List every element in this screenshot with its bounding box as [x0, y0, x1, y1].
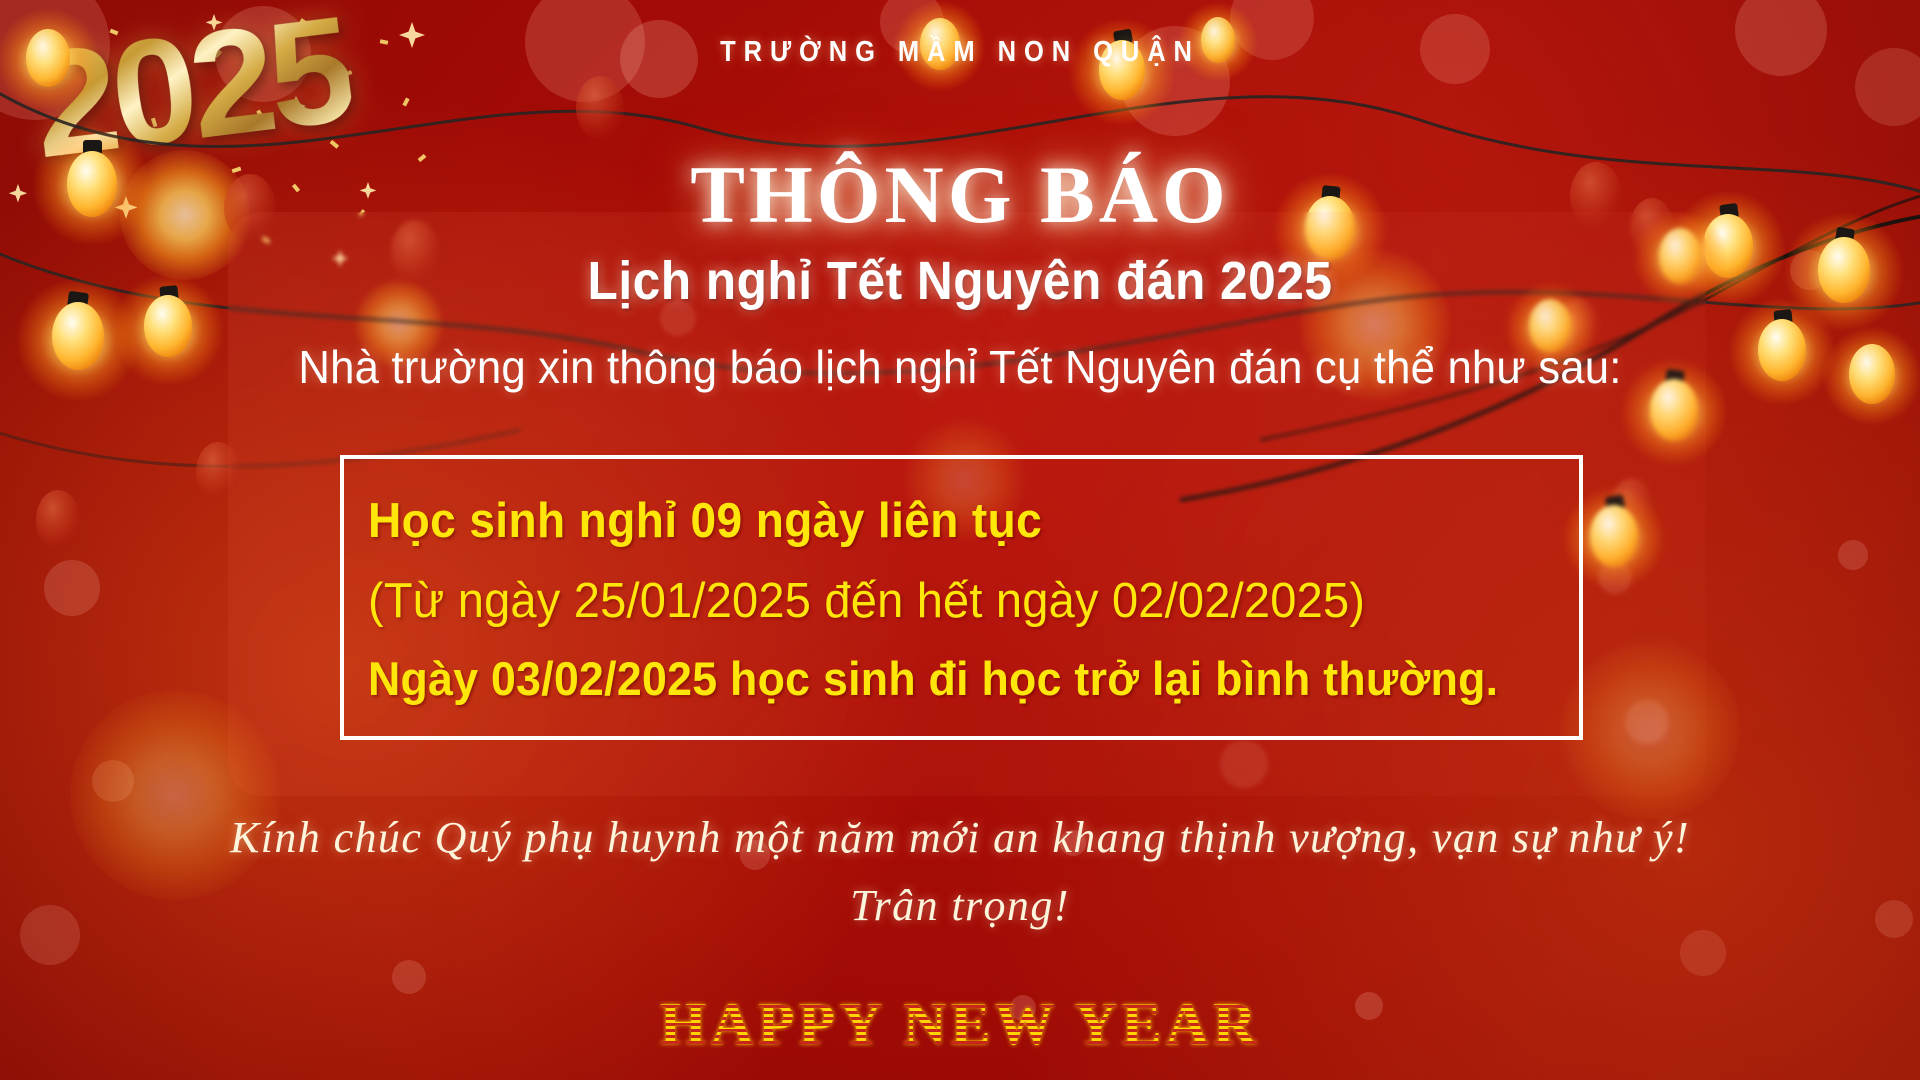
bokeh-circle-icon — [525, 0, 645, 102]
school-name: TRƯỜNG MẦM NON QUẬN — [115, 36, 1805, 69]
bokeh-circle-icon — [0, 0, 110, 120]
bokeh-circle-icon — [1230, 0, 1314, 60]
bokeh-circle-icon — [620, 20, 698, 98]
bokeh-circle-icon — [1060, 830, 1086, 856]
light-bulb-icon — [112, 274, 224, 386]
bokeh-circle-icon — [1120, 26, 1230, 136]
light-bulb-icon — [1728, 298, 1836, 406]
year-balloon-text: 2025 — [23, 0, 358, 192]
light-bulb-icon — [1822, 326, 1920, 426]
bokeh-circle-icon — [1735, 0, 1827, 76]
wish-line-2: Trân trọng! — [0, 880, 1920, 931]
light-bulb-icon — [0, 8, 100, 112]
bokeh-circle-icon — [1680, 930, 1726, 976]
bokeh-circle-icon — [1355, 992, 1383, 1020]
light-bulb-icon — [894, 0, 986, 92]
bokeh-circle-icon — [1010, 995, 1036, 1021]
bokeh-circle-icon — [880, 0, 944, 54]
bokeh-circle-icon — [44, 560, 100, 616]
light-bulb-icon — [1784, 212, 1904, 332]
light-bulb-icon — [1068, 18, 1176, 126]
bokeh-circle-icon — [1420, 14, 1490, 84]
bokeh-circle-icon — [20, 905, 80, 965]
bokeh-circle-icon — [392, 960, 426, 994]
notice-line-daterange: (Từ ngày 25/01/2025 đến hết ngày 02/02/2… — [368, 573, 1506, 629]
bokeh-circle-icon — [215, 6, 311, 102]
bokeh-circle-icon — [1875, 900, 1913, 938]
happy-new-year-text: HAPPY NEW YEAR — [0, 990, 1920, 1059]
light-bulb-icon — [32, 126, 152, 246]
notice-line-return: Ngày 03/02/2025 học sinh đi học trở lại … — [368, 651, 1494, 706]
notice-line-duration: Học sinh nghỉ 09 ngày liên tục — [368, 493, 1482, 549]
bokeh-circle-icon — [1838, 540, 1868, 570]
notice-box: Học sinh nghỉ 09 ngày liên tục (Từ ngày … — [340, 455, 1583, 740]
bokeh-circle-icon — [92, 760, 134, 802]
bokeh-circle-icon — [740, 840, 770, 870]
bokeh-circle-icon — [1790, 250, 1830, 290]
light-bulb-icon — [16, 278, 140, 402]
tet-holiday-announcement-poster: 2025 — [0, 0, 1920, 1080]
wish-line-1: Kính chúc Quý phụ huynh một năm mới an k… — [0, 812, 1920, 863]
light-bulb-icon — [1178, 2, 1258, 82]
bokeh-circle-icon — [1855, 48, 1920, 126]
year-2025-balloon-logo: 2025 — [34, 12, 354, 192]
